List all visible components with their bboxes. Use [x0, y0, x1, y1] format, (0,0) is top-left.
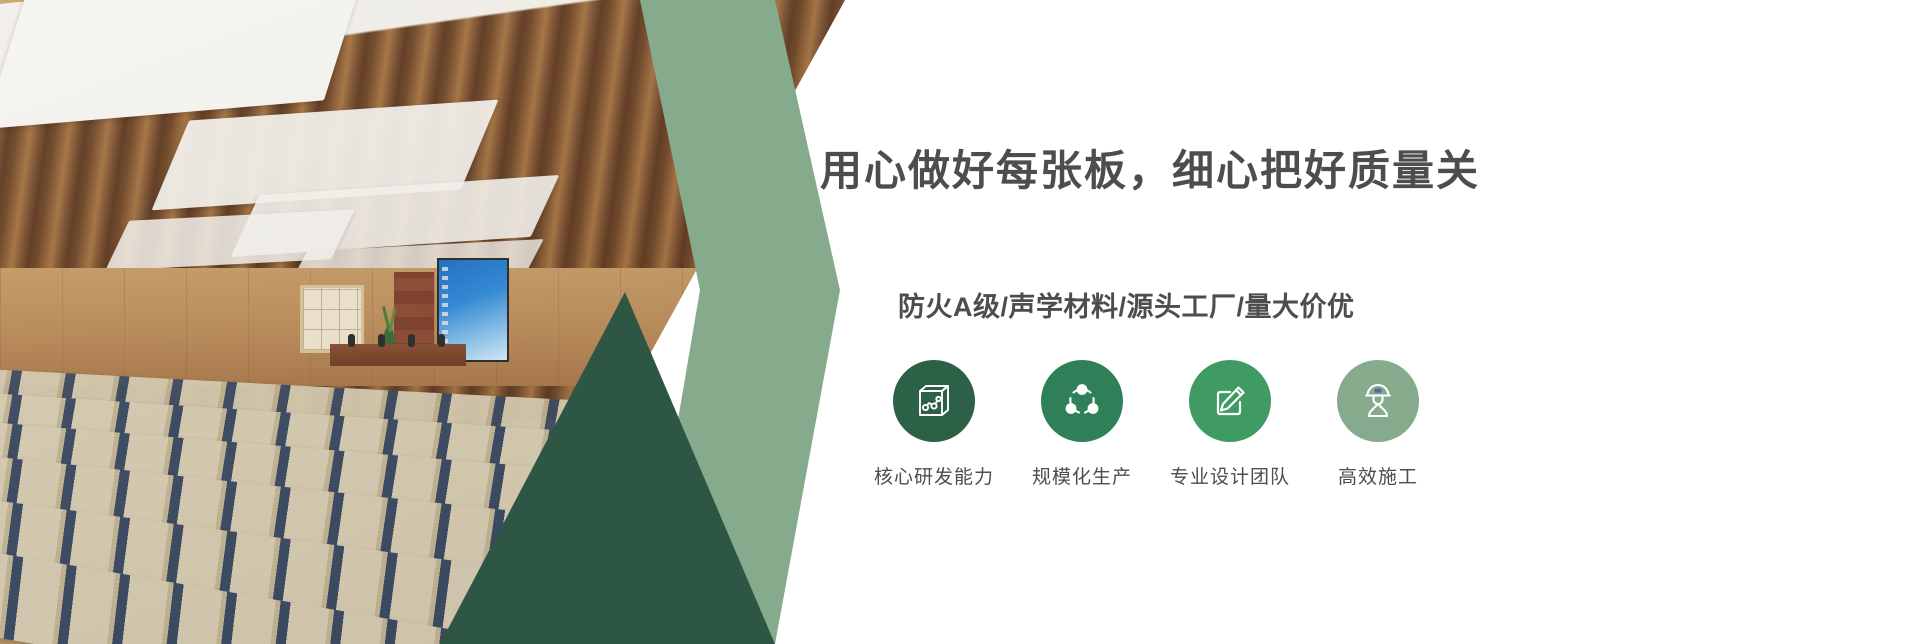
- feature-label: 核心研发能力: [874, 462, 994, 489]
- feature-label: 高效施工: [1338, 462, 1418, 489]
- box-chart-icon: [893, 360, 975, 442]
- banner-content: 用心做好每张板，细心把好质量关 防火A级/声学材料/源头工厂/量大价优: [820, 0, 1920, 644]
- network-nodes-icon: [1041, 360, 1123, 442]
- feature-item-design-team[interactable]: 专业设计团队: [1156, 360, 1304, 489]
- banner-headline: 用心做好每张板，细心把好质量关: [820, 137, 1480, 198]
- feature-label: 专业设计团队: [1170, 462, 1290, 489]
- hero-banner: 用心做好每张板，细心把好质量关 防火A级/声学材料/源头工厂/量大价优: [0, 0, 1920, 644]
- feature-item-efficient-construction[interactable]: 高效施工: [1304, 360, 1452, 489]
- feature-item-scale-production[interactable]: 规模化生产: [1008, 360, 1156, 489]
- feature-list: 核心研发能力 规模化生产: [860, 360, 1452, 489]
- pencil-edit-icon: [1189, 360, 1271, 442]
- feature-label: 规模化生产: [1032, 462, 1132, 489]
- banner-subheadline: 防火A级/声学材料/源头工厂/量大价优: [898, 285, 1355, 324]
- hardhat-worker-icon: [1337, 360, 1419, 442]
- feature-item-core-rd[interactable]: 核心研发能力: [860, 360, 1008, 489]
